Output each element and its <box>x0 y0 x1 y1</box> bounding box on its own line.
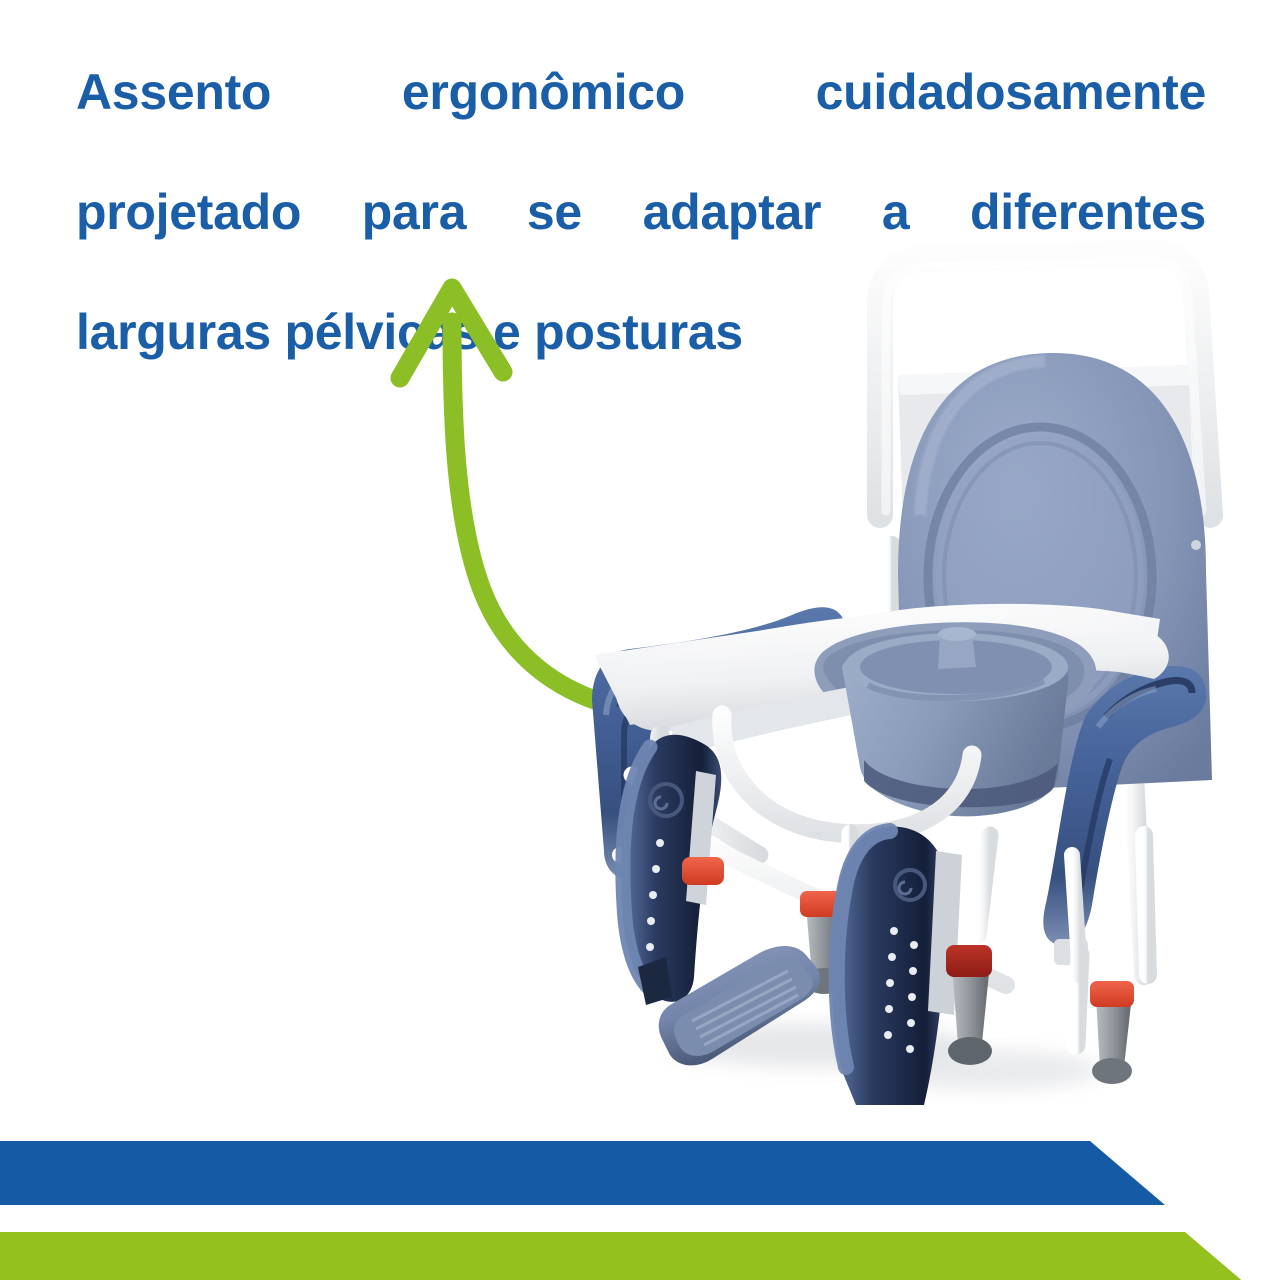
product-image <box>520 215 1240 1105</box>
footrest-left <box>621 735 820 1066</box>
slide-canvas: Assento ergonômico cuidadosamente projet… <box>0 0 1280 1280</box>
brake-lever-footrest-left <box>682 857 724 885</box>
footer-decoration <box>0 1130 1280 1280</box>
brake-lever-rear-right <box>1090 981 1134 1007</box>
brake-lever-footrest-right <box>946 945 992 977</box>
shower-commode-chair-illustration <box>520 215 1240 1105</box>
footer-bars-svg <box>0 1130 1280 1280</box>
headline-line-1: Assento ergonômico cuidadosamente <box>76 62 1206 182</box>
footrest-right <box>832 827 992 1105</box>
footer-bar-green <box>0 1232 1280 1280</box>
caster-rear-right <box>1090 981 1134 1084</box>
footer-bar-blue <box>0 1141 1165 1205</box>
frame-tube-front-right <box>978 835 990 935</box>
